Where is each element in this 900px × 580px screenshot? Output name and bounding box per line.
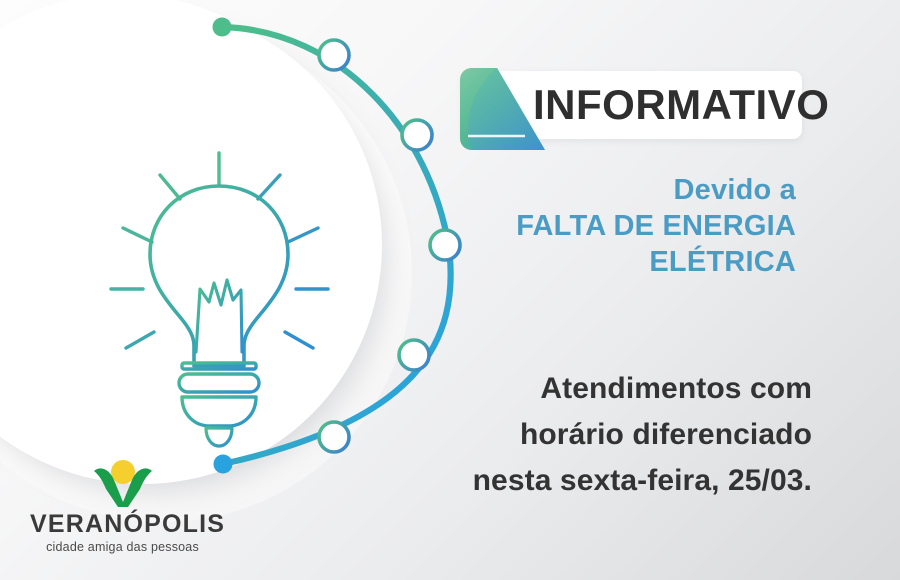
body-line-3: nesta sexta-feira, 25/03. <box>342 458 812 504</box>
veranopolis-logo: VERANÓPOLIS cidade amiga das pessoas <box>30 458 215 553</box>
headline-line-3: ELÉTRICA <box>376 244 796 280</box>
headline-line-2: FALTA DE ENERGIA <box>376 208 796 244</box>
headline-block: Devido a FALTA DE ENERGIA ELÉTRICA <box>376 172 796 280</box>
page-title: INFORMATIVO <box>533 76 795 134</box>
logo-tagline: cidade amiga das pessoas <box>30 540 215 554</box>
body-block: Atendimentos com horário diferenciado ne… <box>342 366 812 504</box>
informativo-poster: INFORMATIVO Devido a FALTA DE ENERGIA EL… <box>0 0 900 580</box>
headline-line-1: Devido a <box>376 172 796 208</box>
logo-name: VERANÓPOLIS <box>30 510 215 539</box>
veranopolis-person-logo-icon <box>83 458 163 508</box>
body-line-1: Atendimentos com <box>342 366 812 412</box>
logo-head-icon <box>111 460 135 484</box>
body-line-2: horário diferenciado <box>342 412 812 458</box>
